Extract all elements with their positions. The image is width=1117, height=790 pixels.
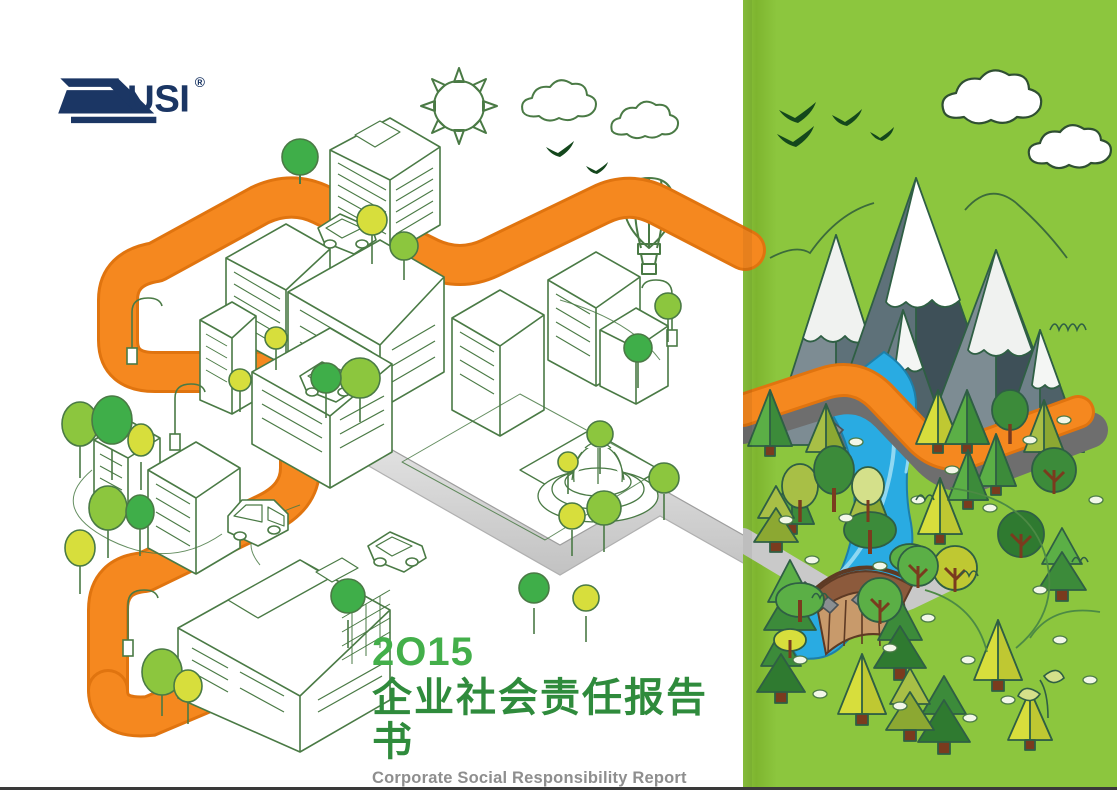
title-block: 2O15 企业社会责任报告书 Corporate Social Responsi… bbox=[372, 632, 712, 787]
usi-logo-text: USI ® bbox=[127, 74, 205, 121]
report-title-chinese: 企业社会责任报告书 bbox=[372, 676, 712, 764]
cover-artwork: USI ® 2O15 企业社会责任报告书 Corporate Social Re… bbox=[0, 0, 1117, 787]
usi-logo: USI ® bbox=[55, 62, 215, 132]
building-tower-c bbox=[452, 290, 544, 436]
svg-text:USI: USI bbox=[127, 77, 189, 120]
building-slab-a bbox=[200, 302, 256, 414]
report-title-english: Corporate Social Responsibility Report bbox=[372, 770, 712, 787]
svg-text:®: ® bbox=[195, 74, 205, 90]
building-small-b bbox=[148, 442, 240, 574]
report-year: 2O15 bbox=[372, 632, 712, 672]
report-cover-page: USI ® 2O15 企业社会责任报告书 Corporate Social Re… bbox=[0, 0, 1117, 790]
